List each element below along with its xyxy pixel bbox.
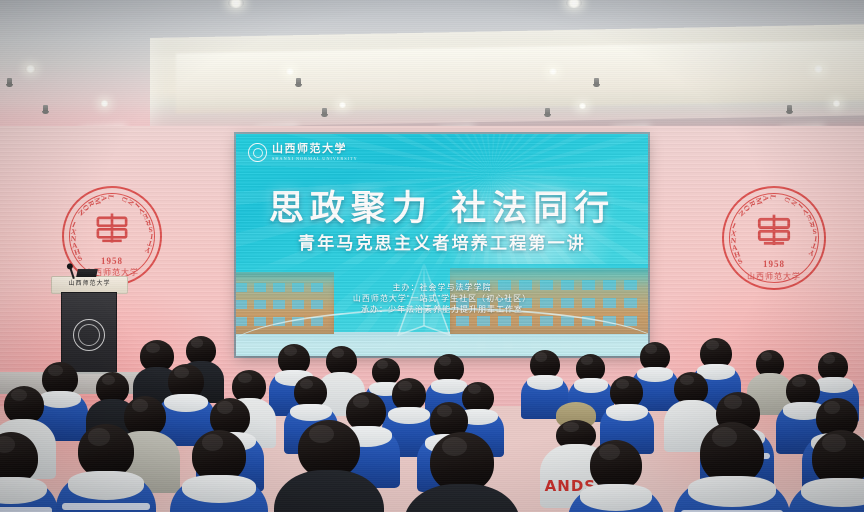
person-head: [372, 358, 400, 385]
person-torso: [788, 478, 864, 512]
downlight: [548, 68, 558, 75]
slide-logo-cn: 山西师范大学: [272, 144, 358, 156]
seal-cn-right: 山西师范大学: [724, 271, 824, 282]
downlight: [25, 65, 36, 73]
sprinkler-head: [43, 105, 48, 113]
slide-organizer-line-2: 山西师范大学“一站式”学生社区（初心社区）: [236, 293, 648, 304]
person-head: [590, 440, 642, 490]
sprinkler-head: [787, 105, 792, 113]
ceiling: [0, 0, 864, 132]
downlight: [566, 0, 582, 8]
downlight: [578, 103, 587, 109]
wall-seal-right: SHANXI NORMAL UNIVERSITY 1958 山西师范大学: [722, 186, 826, 290]
person-torso: [56, 471, 156, 512]
sprinkler-head: [594, 78, 599, 86]
seal-arc-char: L: [106, 194, 115, 200]
lecture-hall-photo: SHANXI NORMAL UNIVERSITY 1958 山西师范大学 SHA…: [0, 0, 864, 512]
laptop-icon: [76, 269, 98, 277]
slide-logo-en: SHANXI NORMAL UNIVERSITY: [272, 156, 358, 161]
seal-arc-char: Y: [807, 248, 816, 259]
sprinkler-head: [7, 78, 12, 86]
person-head: [430, 432, 494, 492]
slide-subtitle: 青年马克思主义者培养工程第一讲: [236, 229, 648, 254]
seal-arc-char: Y: [143, 245, 152, 256]
seal-book-emblem-icon: [87, 210, 137, 254]
downlight: [285, 68, 295, 75]
seal-book-emblem-icon: [748, 211, 800, 257]
projection-screen: 山西师范大学 SHANXI NORMAL UNIVERSITY 思政聚力 社法同…: [236, 134, 648, 356]
downlight: [100, 100, 109, 107]
seal-arc-char: L: [768, 194, 777, 200]
slide-title: 思政聚力 社法同行: [236, 180, 648, 231]
sprinkler-head: [545, 108, 550, 116]
sprinkler-head: [296, 78, 301, 86]
downlight: [228, 0, 244, 8]
sprinkler-head: [322, 108, 327, 116]
person-torso: [0, 477, 58, 512]
downlight: [813, 65, 824, 73]
person-head: [700, 422, 764, 484]
slide-university-logo: 山西师范大学 SHANXI NORMAL UNIVERSITY: [248, 143, 358, 162]
slide-organizer-line-1: 主办：社会学与法学学院: [236, 282, 648, 293]
university-crest-icon: [248, 143, 267, 162]
slide-organizer-line-3: 承办：少年法治素养能力提升朋辈工作室: [236, 304, 648, 315]
student-audience: ANDSE: [0, 336, 864, 512]
downlight: [832, 100, 841, 107]
person-torso: [170, 475, 268, 512]
person-head: [78, 424, 134, 478]
downlight: [338, 102, 347, 108]
seal-year-left: 1958: [64, 256, 160, 266]
seal-year-right: 1958: [724, 259, 824, 269]
